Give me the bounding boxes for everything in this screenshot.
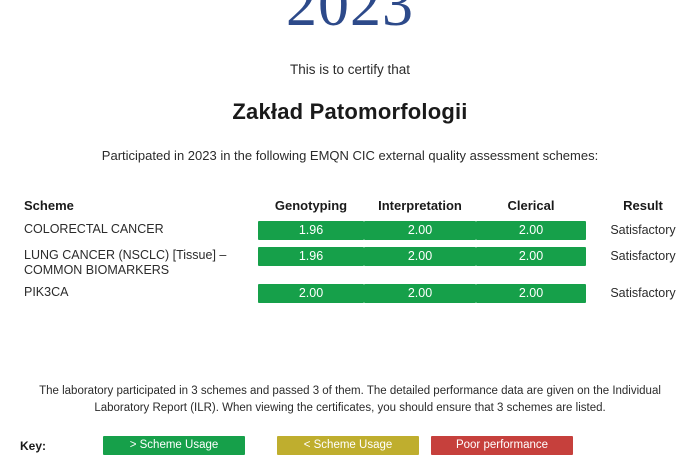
key-item-scheme-usage-below: < Scheme Usage [277,436,419,455]
score-badge: 2.00 [364,284,476,303]
column-header-interpretation: Interpretation [364,198,476,221]
laboratory-name: Zakład Patomorfologii [0,99,700,125]
key-legend: Key: > Scheme Usage < Scheme Usage Poor … [0,436,700,456]
cell-genotyping-score: 2.00 [258,284,364,310]
footer-note: The laboratory participated in 3 schemes… [20,383,680,417]
certificate-year: 2023 [0,0,700,36]
cell-interpretation-score: 2.00 [364,284,476,310]
score-badge: 2.00 [364,247,476,266]
cell-interpretation-score: 2.00 [364,221,476,247]
score-badge: 2.00 [476,221,586,240]
cell-result: Satisfactory [586,221,700,247]
cell-result: Satisfactory [586,284,700,310]
column-header-clerical: Clerical [476,198,586,221]
cell-interpretation-score: 2.00 [364,247,476,278]
cell-scheme-name: COLORECTAL CANCER [0,221,258,247]
cell-clerical-score: 2.00 [476,247,586,278]
score-badge: 2.00 [364,221,476,240]
cell-clerical-score: 2.00 [476,284,586,310]
score-badge: 2.00 [258,284,364,303]
score-badge: 2.00 [476,284,586,303]
participation-statement: Participated in 2023 in the following EM… [90,147,610,165]
cell-clerical-score: 2.00 [476,221,586,247]
table-row: COLORECTAL CANCER 1.96 2.00 2.00 Satisfa… [0,221,700,247]
score-badge: 2.00 [476,247,586,266]
cell-scheme-name: LUNG CANCER (NSCLC) [Tissue] – COMMON BI… [0,247,258,278]
key-item-poor-performance: Poor performance [431,436,573,455]
cell-result: Satisfactory [586,247,700,278]
column-header-result: Result [586,198,700,221]
cell-genotyping-score: 1.96 [258,247,364,278]
column-header-genotyping: Genotyping [258,198,364,221]
scheme-results-table: Scheme Genotyping Interpretation Clerica… [0,198,700,310]
column-header-scheme: Scheme [0,198,258,221]
score-badge: 1.96 [258,247,364,266]
cell-scheme-name: PIK3CA [0,284,258,310]
table-row: PIK3CA 2.00 2.00 2.00 Satisfactory [0,284,700,310]
certify-statement: This is to certify that [0,62,700,77]
table-header-row: Scheme Genotyping Interpretation Clerica… [0,198,700,221]
key-item-scheme-usage-above: > Scheme Usage [103,436,245,455]
table-row: LUNG CANCER (NSCLC) [Tissue] – COMMON BI… [0,247,700,278]
key-label: Key: [20,439,46,453]
score-badge: 1.96 [258,221,364,240]
cell-genotyping-score: 1.96 [258,221,364,247]
